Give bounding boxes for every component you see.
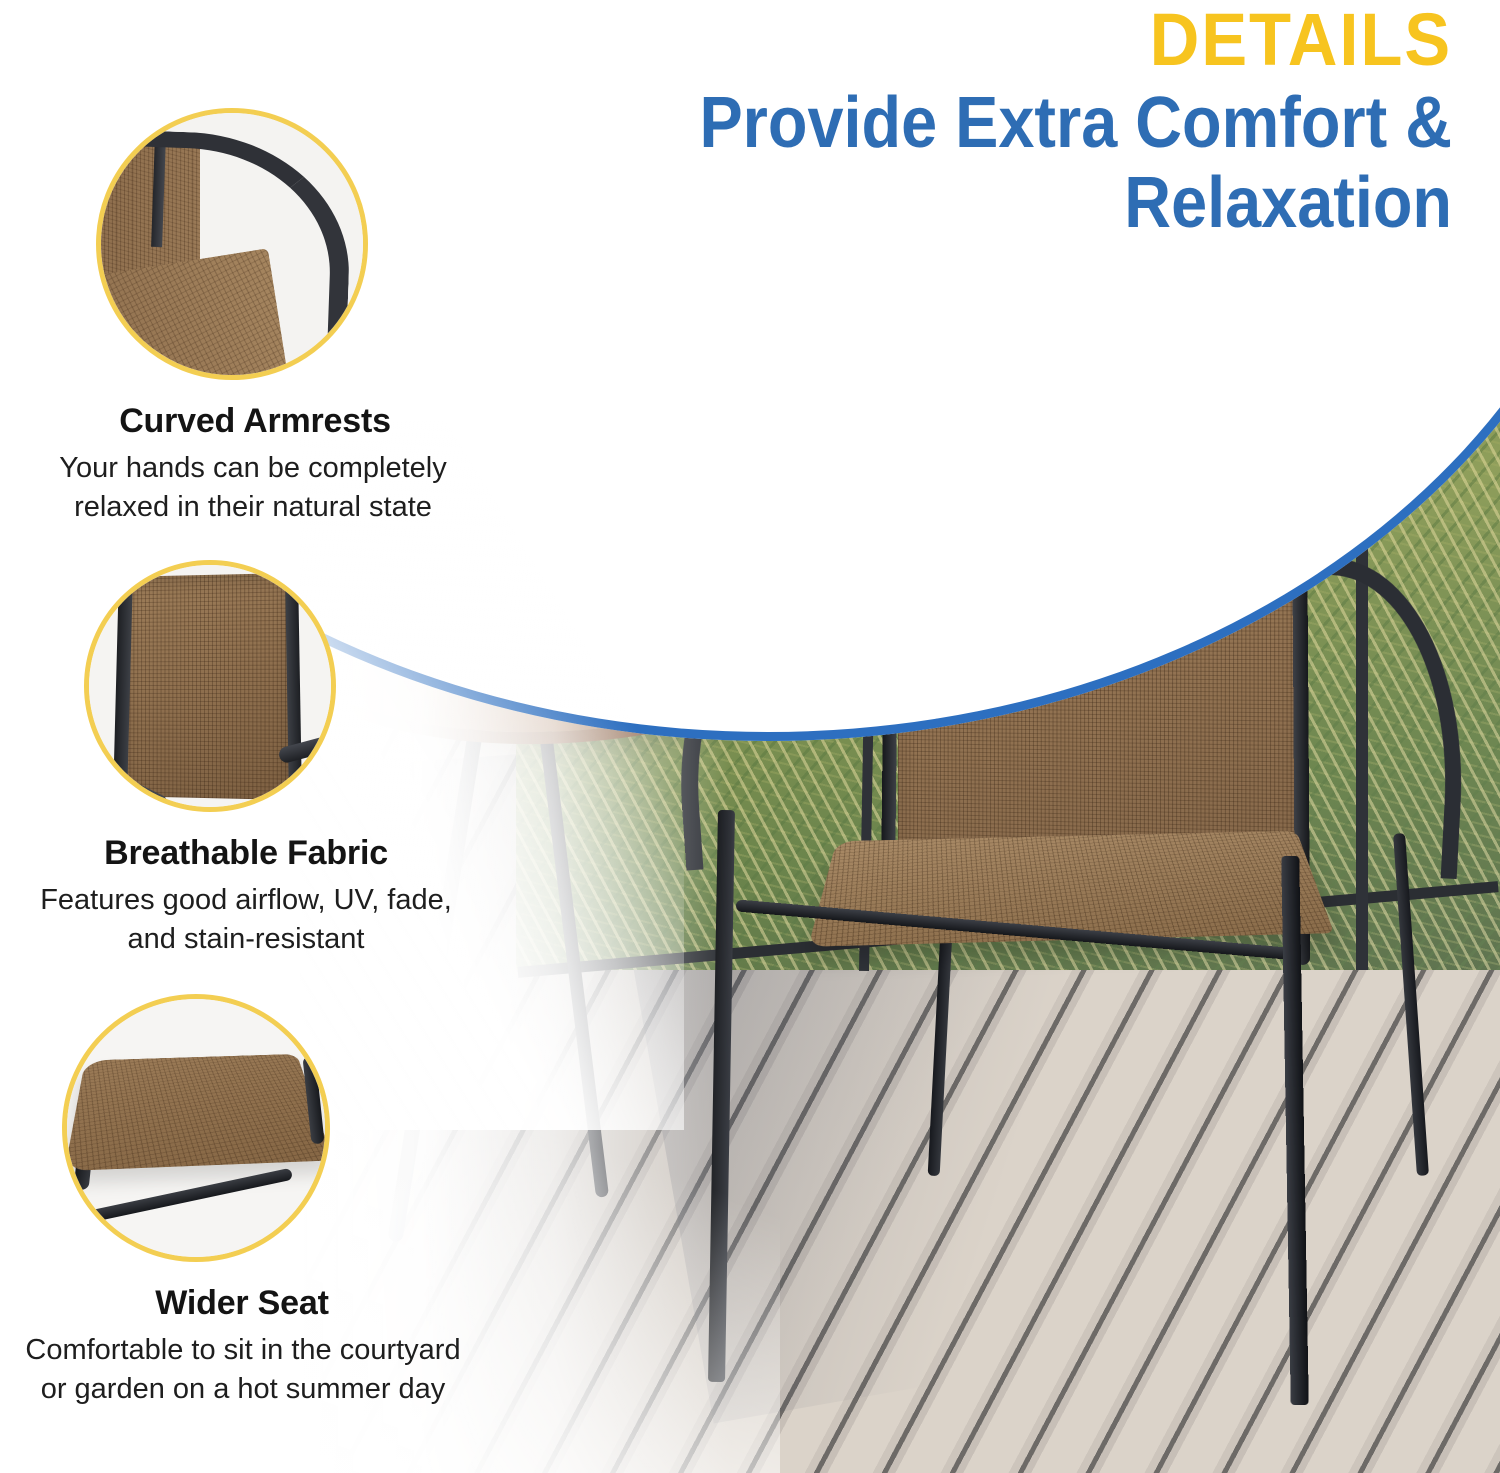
page-title: Provide Extra Comfort & Relaxation <box>390 83 1452 244</box>
fabric-photo-mesh-panel <box>122 573 291 800</box>
chair-rear-leg-right <box>1393 833 1429 1176</box>
header: DETAILS Provide Extra Comfort & Relaxati… <box>272 0 1452 244</box>
seat-photo-content <box>67 999 325 1257</box>
feature-description: Features good airflow, UV, fade, and sta… <box>0 881 492 958</box>
feature-title: Breathable Fabric <box>0 834 492 873</box>
details-eyebrow: DETAILS <box>355 4 1452 77</box>
seat-photo-cushion <box>67 1054 325 1171</box>
feature-description: Your hands can be completely relaxed in … <box>14 449 492 526</box>
chair-armrest-right <box>1218 553 1473 879</box>
feature-item-breathable-fabric: Breathable Fabric Features good airflow,… <box>0 560 492 958</box>
feature-title: Wider Seat <box>0 1284 492 1323</box>
feature-title: Curved Armrests <box>18 402 492 441</box>
product-detail-page: DETAILS Provide Extra Comfort & Relaxati… <box>0 0 1500 1473</box>
feature-list: Curved Armrests Your hands can be comple… <box>0 108 492 1408</box>
fabric-photo-content <box>89 565 331 807</box>
feature-item-wider-seat: Wider Seat Comfortable to sit in the cou… <box>0 994 492 1408</box>
seat-closeup-photo <box>62 994 330 1262</box>
feature-description: Comfortable to sit in the courtyard or g… <box>0 1331 492 1408</box>
patio-dining-chair <box>780 330 1500 1473</box>
chair-back-fabric-closeup-photo <box>84 560 336 812</box>
